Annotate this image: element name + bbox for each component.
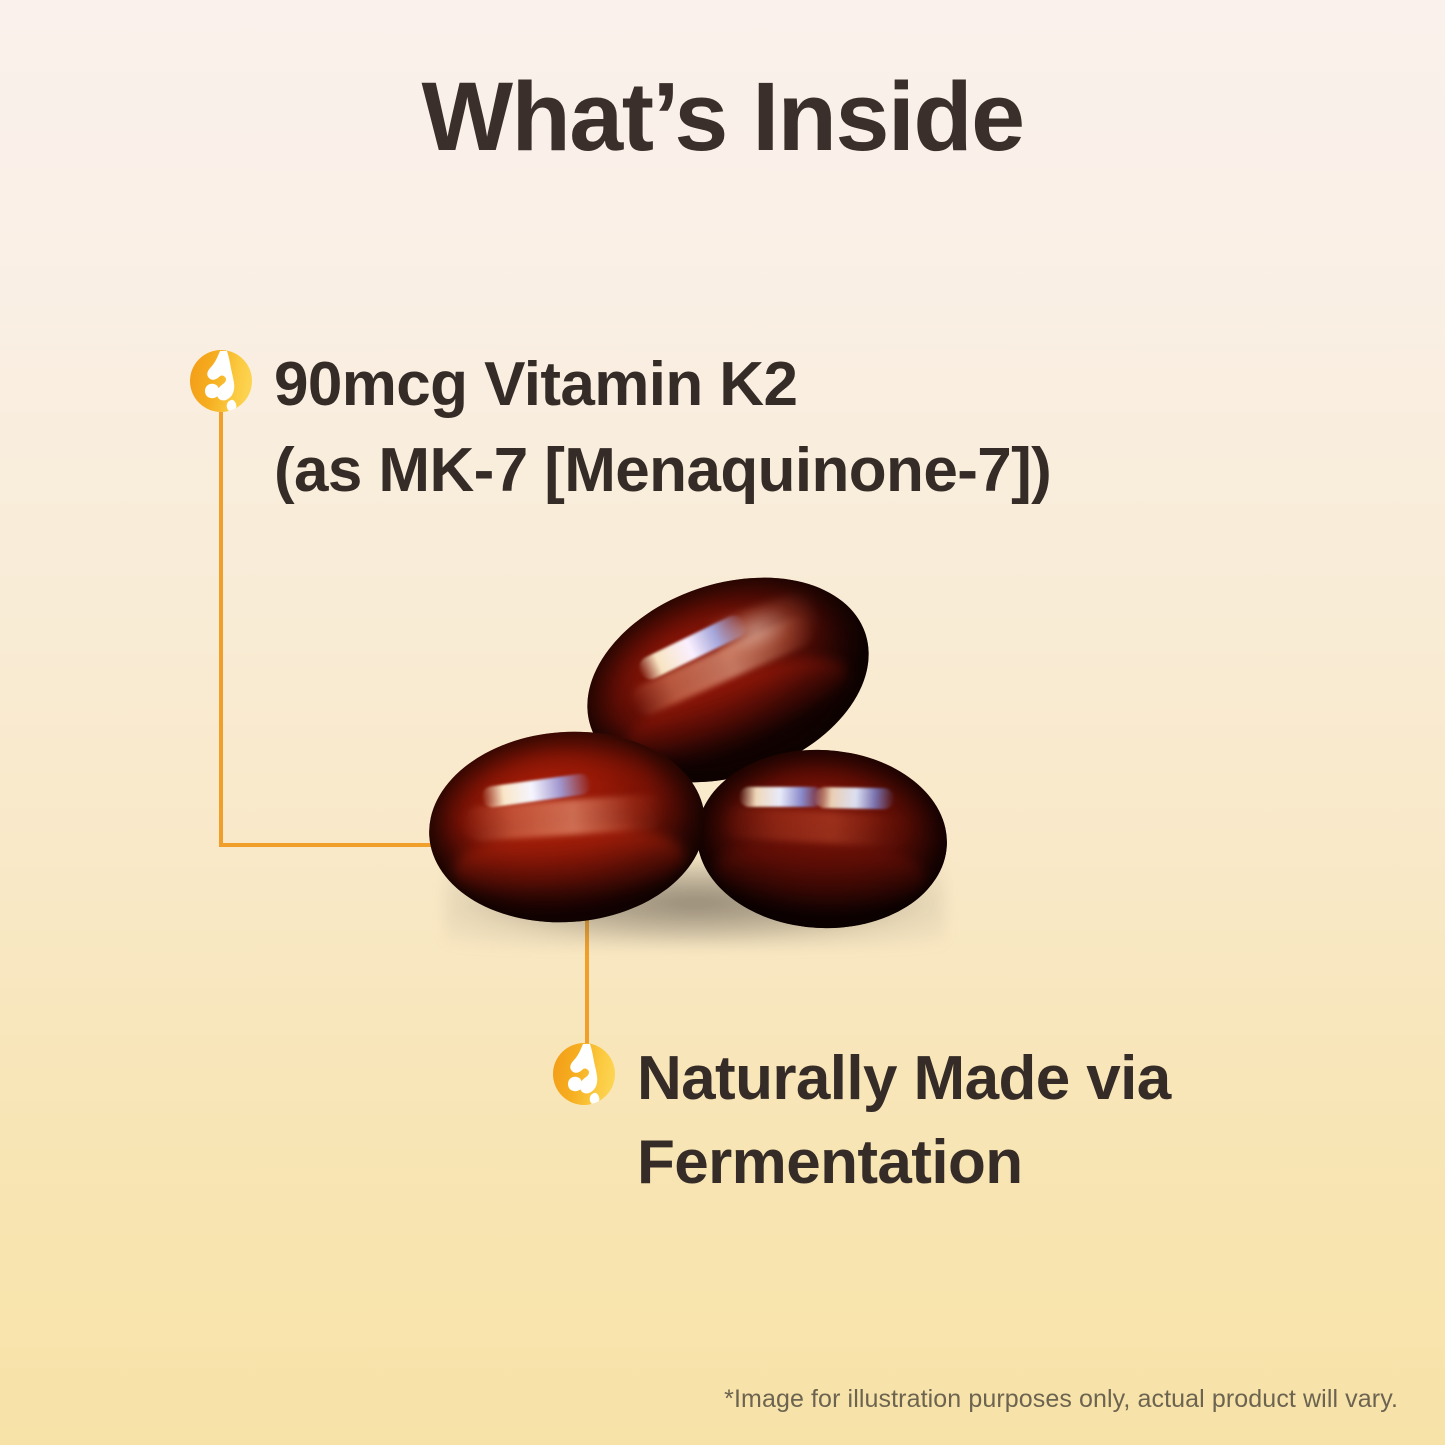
softgel-capsules-image xyxy=(415,580,975,960)
infographic-canvas: What’s Inside xyxy=(0,0,1445,1445)
callout-vitamin-k2: 90mcg Vitamin K2 (as MK-7 [Menaquinone-7… xyxy=(190,350,1051,513)
capsule-right-highlight-soft xyxy=(722,805,913,847)
callout-fermentation-line2: Fermentation xyxy=(637,1121,1277,1205)
capsule-right-highlight-specular xyxy=(739,787,824,807)
callout-fermentation-line1: Naturally Made via xyxy=(637,1037,1277,1121)
callout-vitamin-k2-line2: (as MK-7 [Menaquinone-7]) xyxy=(274,428,1051,514)
capsule-right-highlight-specular-2 xyxy=(814,787,894,810)
callout-vitamin-k2-line1: 90mcg Vitamin K2 xyxy=(274,342,1051,428)
callout-fermentation: Naturally Made via Fermentation xyxy=(553,1043,1277,1204)
callout-fermentation-text: Naturally Made via Fermentation xyxy=(637,1037,1277,1204)
callout-vitamin-k2-text: 90mcg Vitamin K2 (as MK-7 [Menaquinone-7… xyxy=(274,342,1051,513)
bone-joint-icon xyxy=(190,350,252,412)
footnote-disclaimer: *Image for illustration purposes only, a… xyxy=(724,1385,1398,1414)
page-title: What’s Inside xyxy=(0,66,1445,168)
bone-joint-icon xyxy=(553,1043,615,1105)
